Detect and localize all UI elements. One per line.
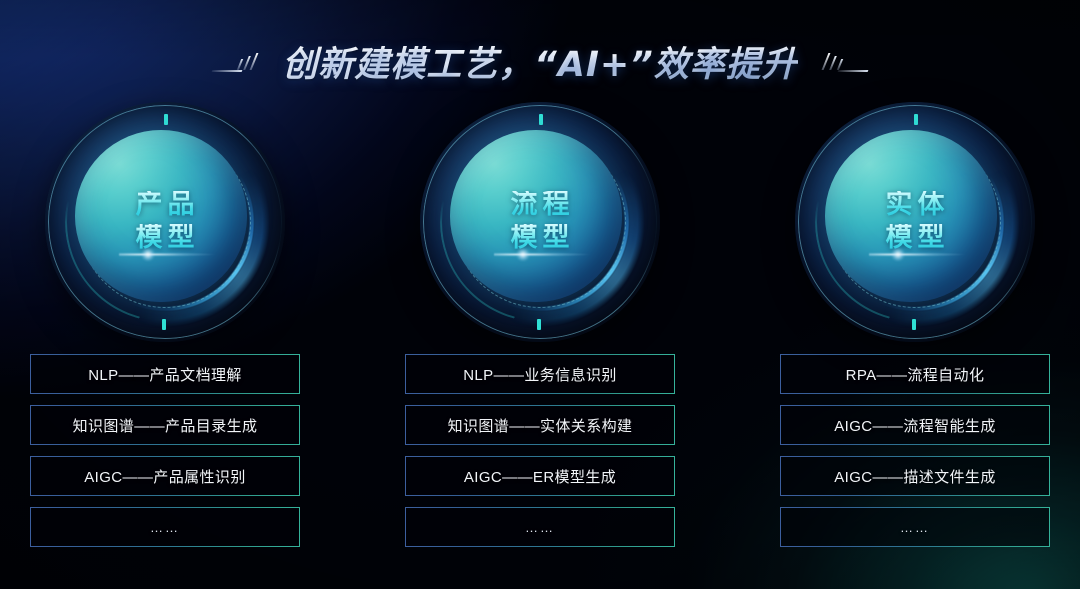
title-right-decoration-icon xyxy=(812,44,868,78)
list-item[interactable]: AIGC——流程智能生成 xyxy=(780,405,1050,445)
slide-canvas: 创新建模工艺，“AI+”效率提升 产品 模 xyxy=(0,0,1080,589)
list-item[interactable]: AIGC——描述文件生成 xyxy=(780,456,1050,496)
badge-label-line1: 流程 xyxy=(506,191,575,220)
list-item[interactable]: NLP——业务信息识别 xyxy=(405,354,675,394)
list-item[interactable]: AIGC——产品属性识别 xyxy=(30,456,300,496)
title-left-decoration-icon xyxy=(212,44,268,78)
badge-entity-model[interactable]: 实体 模型 xyxy=(795,102,1035,342)
list-item-label: AIGC——产品属性识别 xyxy=(84,466,245,487)
badge-lens-flare-dot xyxy=(891,248,905,261)
page-title: 创新建模工艺，“AI+”效率提升 xyxy=(282,36,798,87)
slide-title-row: 创新建模工艺，“AI+”效率提升 xyxy=(0,34,1080,88)
column-product-model: 产品 模型 NLP——产品文档理解 知识图谱——产品目录生成 AIGC——产品属… xyxy=(30,98,300,547)
list-item[interactable]: 知识图谱——实体关系构建 xyxy=(405,405,675,445)
list-item-label: 知识图谱——产品目录生成 xyxy=(73,415,258,436)
list-item-label: AIGC——ER模型生成 xyxy=(464,466,616,487)
badge-arc-bottom-cap xyxy=(537,319,541,330)
badge-lens-flare-streak xyxy=(494,252,632,257)
list-item[interactable]: 知识图谱——产品目录生成 xyxy=(30,405,300,445)
badge-lens-flare-streak xyxy=(869,252,1007,257)
badge-arc-bottom-cap xyxy=(162,319,166,330)
list-item-label: …… xyxy=(525,520,555,535)
column-process-model: 流程 模型 NLP——业务信息识别 知识图谱——实体关系构建 AIGC——ER模… xyxy=(405,98,675,547)
badge-lens-flare-dot xyxy=(516,248,530,261)
badge-arc-bottom-cap xyxy=(912,319,916,330)
badge-lens-flare-streak xyxy=(119,252,257,257)
list-item-label: AIGC——流程智能生成 xyxy=(834,415,995,436)
item-list-product-model: NLP——产品文档理解 知识图谱——产品目录生成 AIGC——产品属性识别 …… xyxy=(30,354,300,547)
list-item[interactable]: AIGC——ER模型生成 xyxy=(405,456,675,496)
item-list-entity-model: RPA——流程自动化 AIGC——流程智能生成 AIGC——描述文件生成 …… xyxy=(780,354,1050,547)
list-item-more[interactable]: …… xyxy=(405,507,675,547)
list-item-label: …… xyxy=(900,520,930,535)
list-item-label: 知识图谱——实体关系构建 xyxy=(448,415,633,436)
list-item-label: AIGC——描述文件生成 xyxy=(834,466,995,487)
badge-label-line2: 模型 xyxy=(506,224,575,253)
list-item-label: NLP——业务信息识别 xyxy=(463,364,617,385)
badge-label: 产品 模型 xyxy=(75,130,255,314)
list-item-more[interactable]: …… xyxy=(30,507,300,547)
badge-label-line2: 模型 xyxy=(881,224,950,253)
model-columns: 产品 模型 NLP——产品文档理解 知识图谱——产品目录生成 AIGC——产品属… xyxy=(0,98,1080,547)
column-entity-model: 实体 模型 RPA——流程自动化 AIGC——流程智能生成 AIGC——描述文件… xyxy=(780,98,1050,547)
list-item-label: NLP——产品文档理解 xyxy=(88,364,242,385)
list-item-label: …… xyxy=(150,520,180,535)
badge-label-line1: 实体 xyxy=(881,191,950,220)
badge-lens-flare-dot xyxy=(141,248,155,261)
badge-label-line1: 产品 xyxy=(131,191,200,220)
item-list-process-model: NLP——业务信息识别 知识图谱——实体关系构建 AIGC——ER模型生成 …… xyxy=(405,354,675,547)
list-item[interactable]: RPA——流程自动化 xyxy=(780,354,1050,394)
badge-product-model[interactable]: 产品 模型 xyxy=(45,102,285,342)
list-item[interactable]: NLP——产品文档理解 xyxy=(30,354,300,394)
badge-label-line2: 模型 xyxy=(131,224,200,253)
badge-label: 流程 模型 xyxy=(450,130,630,314)
badge-label: 实体 模型 xyxy=(825,130,1005,314)
list-item-label: RPA——流程自动化 xyxy=(846,364,985,385)
badge-process-model[interactable]: 流程 模型 xyxy=(420,102,660,342)
list-item-more[interactable]: …… xyxy=(780,507,1050,547)
